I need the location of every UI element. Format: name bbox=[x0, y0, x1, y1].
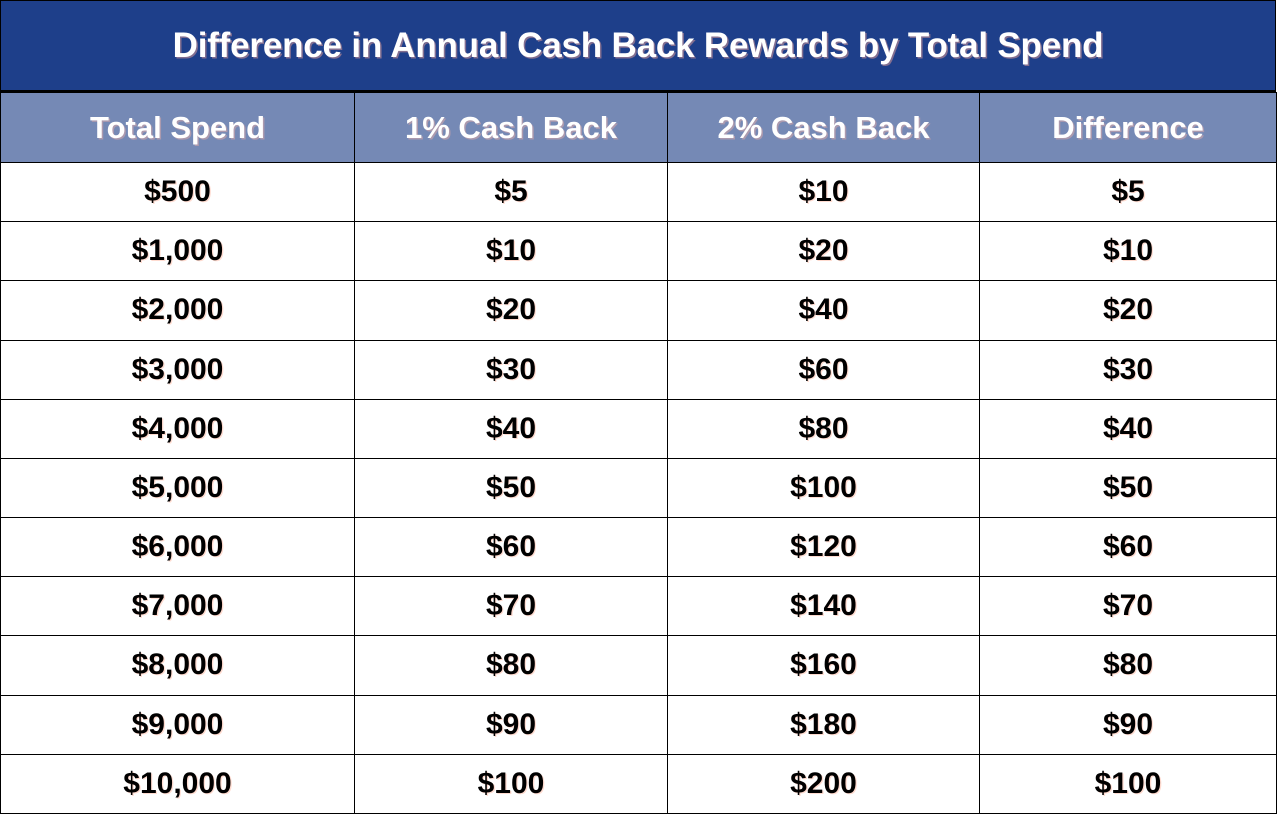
cell-difference: $5 bbox=[980, 163, 1277, 222]
table-header: Total Spend 1% Cash Back 2% Cash Back Di… bbox=[1, 93, 1277, 163]
cell-one-percent: $90 bbox=[355, 695, 668, 754]
cash-back-comparison-table: Total Spend 1% Cash Back 2% Cash Back Di… bbox=[0, 92, 1277, 814]
cell-one-percent: $10 bbox=[355, 222, 668, 281]
cell-two-percent: $200 bbox=[668, 754, 980, 813]
table-row: $6,000 $60 $120 $60 bbox=[1, 518, 1277, 577]
table-row: $500 $5 $10 $5 bbox=[1, 163, 1277, 222]
cell-total-spend: $5,000 bbox=[1, 458, 355, 517]
cell-total-spend: $9,000 bbox=[1, 695, 355, 754]
cell-two-percent: $100 bbox=[668, 458, 980, 517]
table-row: $8,000 $80 $160 $80 bbox=[1, 636, 1277, 695]
cell-difference: $80 bbox=[980, 636, 1277, 695]
cell-total-spend: $10,000 bbox=[1, 754, 355, 813]
cell-one-percent: $80 bbox=[355, 636, 668, 695]
cell-one-percent: $70 bbox=[355, 577, 668, 636]
cell-difference: $40 bbox=[980, 399, 1277, 458]
cell-total-spend: $8,000 bbox=[1, 636, 355, 695]
cell-one-percent: $5 bbox=[355, 163, 668, 222]
cell-one-percent: $30 bbox=[355, 340, 668, 399]
cell-difference: $30 bbox=[980, 340, 1277, 399]
cell-total-spend: $1,000 bbox=[1, 222, 355, 281]
cell-difference: $60 bbox=[980, 518, 1277, 577]
cell-two-percent: $180 bbox=[668, 695, 980, 754]
table-row: $5,000 $50 $100 $50 bbox=[1, 458, 1277, 517]
table-header-row: Total Spend 1% Cash Back 2% Cash Back Di… bbox=[1, 93, 1277, 163]
cell-two-percent: $120 bbox=[668, 518, 980, 577]
cell-difference: $20 bbox=[980, 281, 1277, 340]
cell-difference: $10 bbox=[980, 222, 1277, 281]
cell-two-percent: $60 bbox=[668, 340, 980, 399]
cell-difference: $70 bbox=[980, 577, 1277, 636]
cell-one-percent: $100 bbox=[355, 754, 668, 813]
cell-total-spend: $4,000 bbox=[1, 399, 355, 458]
table-row: $7,000 $70 $140 $70 bbox=[1, 577, 1277, 636]
cell-one-percent: $50 bbox=[355, 458, 668, 517]
table-row: $9,000 $90 $180 $90 bbox=[1, 695, 1277, 754]
page-title: Difference in Annual Cash Back Rewards b… bbox=[173, 26, 1104, 66]
cell-difference: $90 bbox=[980, 695, 1277, 754]
cell-total-spend: $7,000 bbox=[1, 577, 355, 636]
table-row: $2,000 $20 $40 $20 bbox=[1, 281, 1277, 340]
column-header-total-spend: Total Spend bbox=[1, 93, 355, 163]
cell-one-percent: $60 bbox=[355, 518, 668, 577]
cell-two-percent: $10 bbox=[668, 163, 980, 222]
table-row: $10,000 $100 $200 $100 bbox=[1, 754, 1277, 813]
table-row: $1,000 $10 $20 $10 bbox=[1, 222, 1277, 281]
cell-two-percent: $40 bbox=[668, 281, 980, 340]
table-row: $4,000 $40 $80 $40 bbox=[1, 399, 1277, 458]
cell-total-spend: $3,000 bbox=[1, 340, 355, 399]
table-row: $3,000 $30 $60 $30 bbox=[1, 340, 1277, 399]
cell-total-spend: $500 bbox=[1, 163, 355, 222]
column-header-difference: Difference bbox=[980, 93, 1277, 163]
cell-two-percent: $160 bbox=[668, 636, 980, 695]
cell-two-percent: $80 bbox=[668, 399, 980, 458]
column-header-one-percent: 1% Cash Back bbox=[355, 93, 668, 163]
cell-difference: $100 bbox=[980, 754, 1277, 813]
column-header-two-percent: 2% Cash Back bbox=[668, 93, 980, 163]
cell-one-percent: $40 bbox=[355, 399, 668, 458]
cell-two-percent: $140 bbox=[668, 577, 980, 636]
table-title-bar: Difference in Annual Cash Back Rewards b… bbox=[0, 0, 1276, 92]
table-body: $500 $5 $10 $5 $1,000 $10 $20 $10 $2,000… bbox=[1, 163, 1277, 814]
cash-back-rewards-table-figure: Difference in Annual Cash Back Rewards b… bbox=[0, 0, 1282, 814]
cell-total-spend: $6,000 bbox=[1, 518, 355, 577]
cell-two-percent: $20 bbox=[668, 222, 980, 281]
cell-total-spend: $2,000 bbox=[1, 281, 355, 340]
cell-one-percent: $20 bbox=[355, 281, 668, 340]
cell-difference: $50 bbox=[980, 458, 1277, 517]
